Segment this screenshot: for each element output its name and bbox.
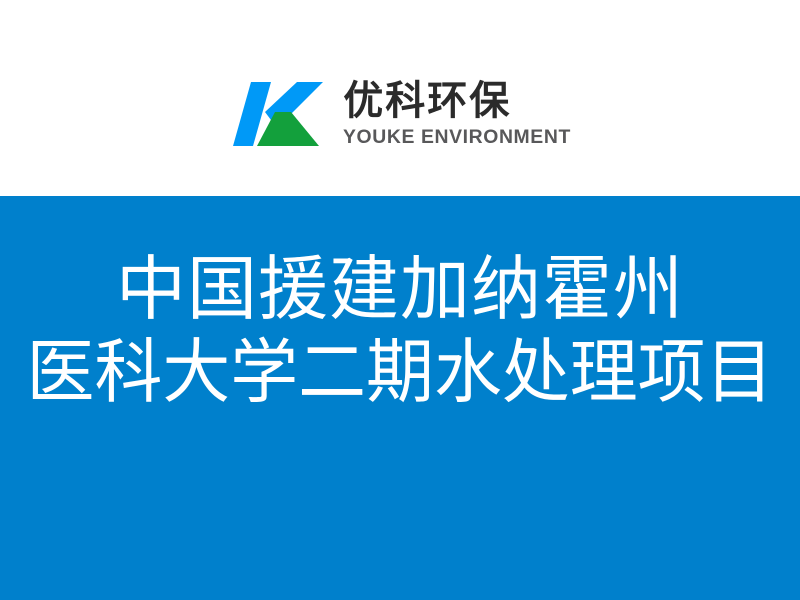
slide-root: 优科环保 YOUKE ENVIRONMENT 中国援建加纳霍州 医科大学二期水处… [0,0,800,600]
brand-text-block: 优科环保 YOUKE ENVIRONMENT [343,81,566,147]
brand-lockup[interactable]: 优科环保 YOUKE ENVIRONMENT [233,81,566,147]
company-name-en: YOUKE ENVIRONMENT [343,128,571,147]
banner-title-line-2: 医科大学二期水处理项目 [27,331,774,414]
banner-title-line-1: 中国援建加纳霍州 [116,248,684,331]
youke-k-monogram-icon [233,82,329,146]
company-name-cn: 优科环保 [343,81,566,121]
title-banner: 中国援建加纳霍州 医科大学二期水处理项目 [0,196,800,600]
header-bar: 优科环保 YOUKE ENVIRONMENT [0,0,800,196]
